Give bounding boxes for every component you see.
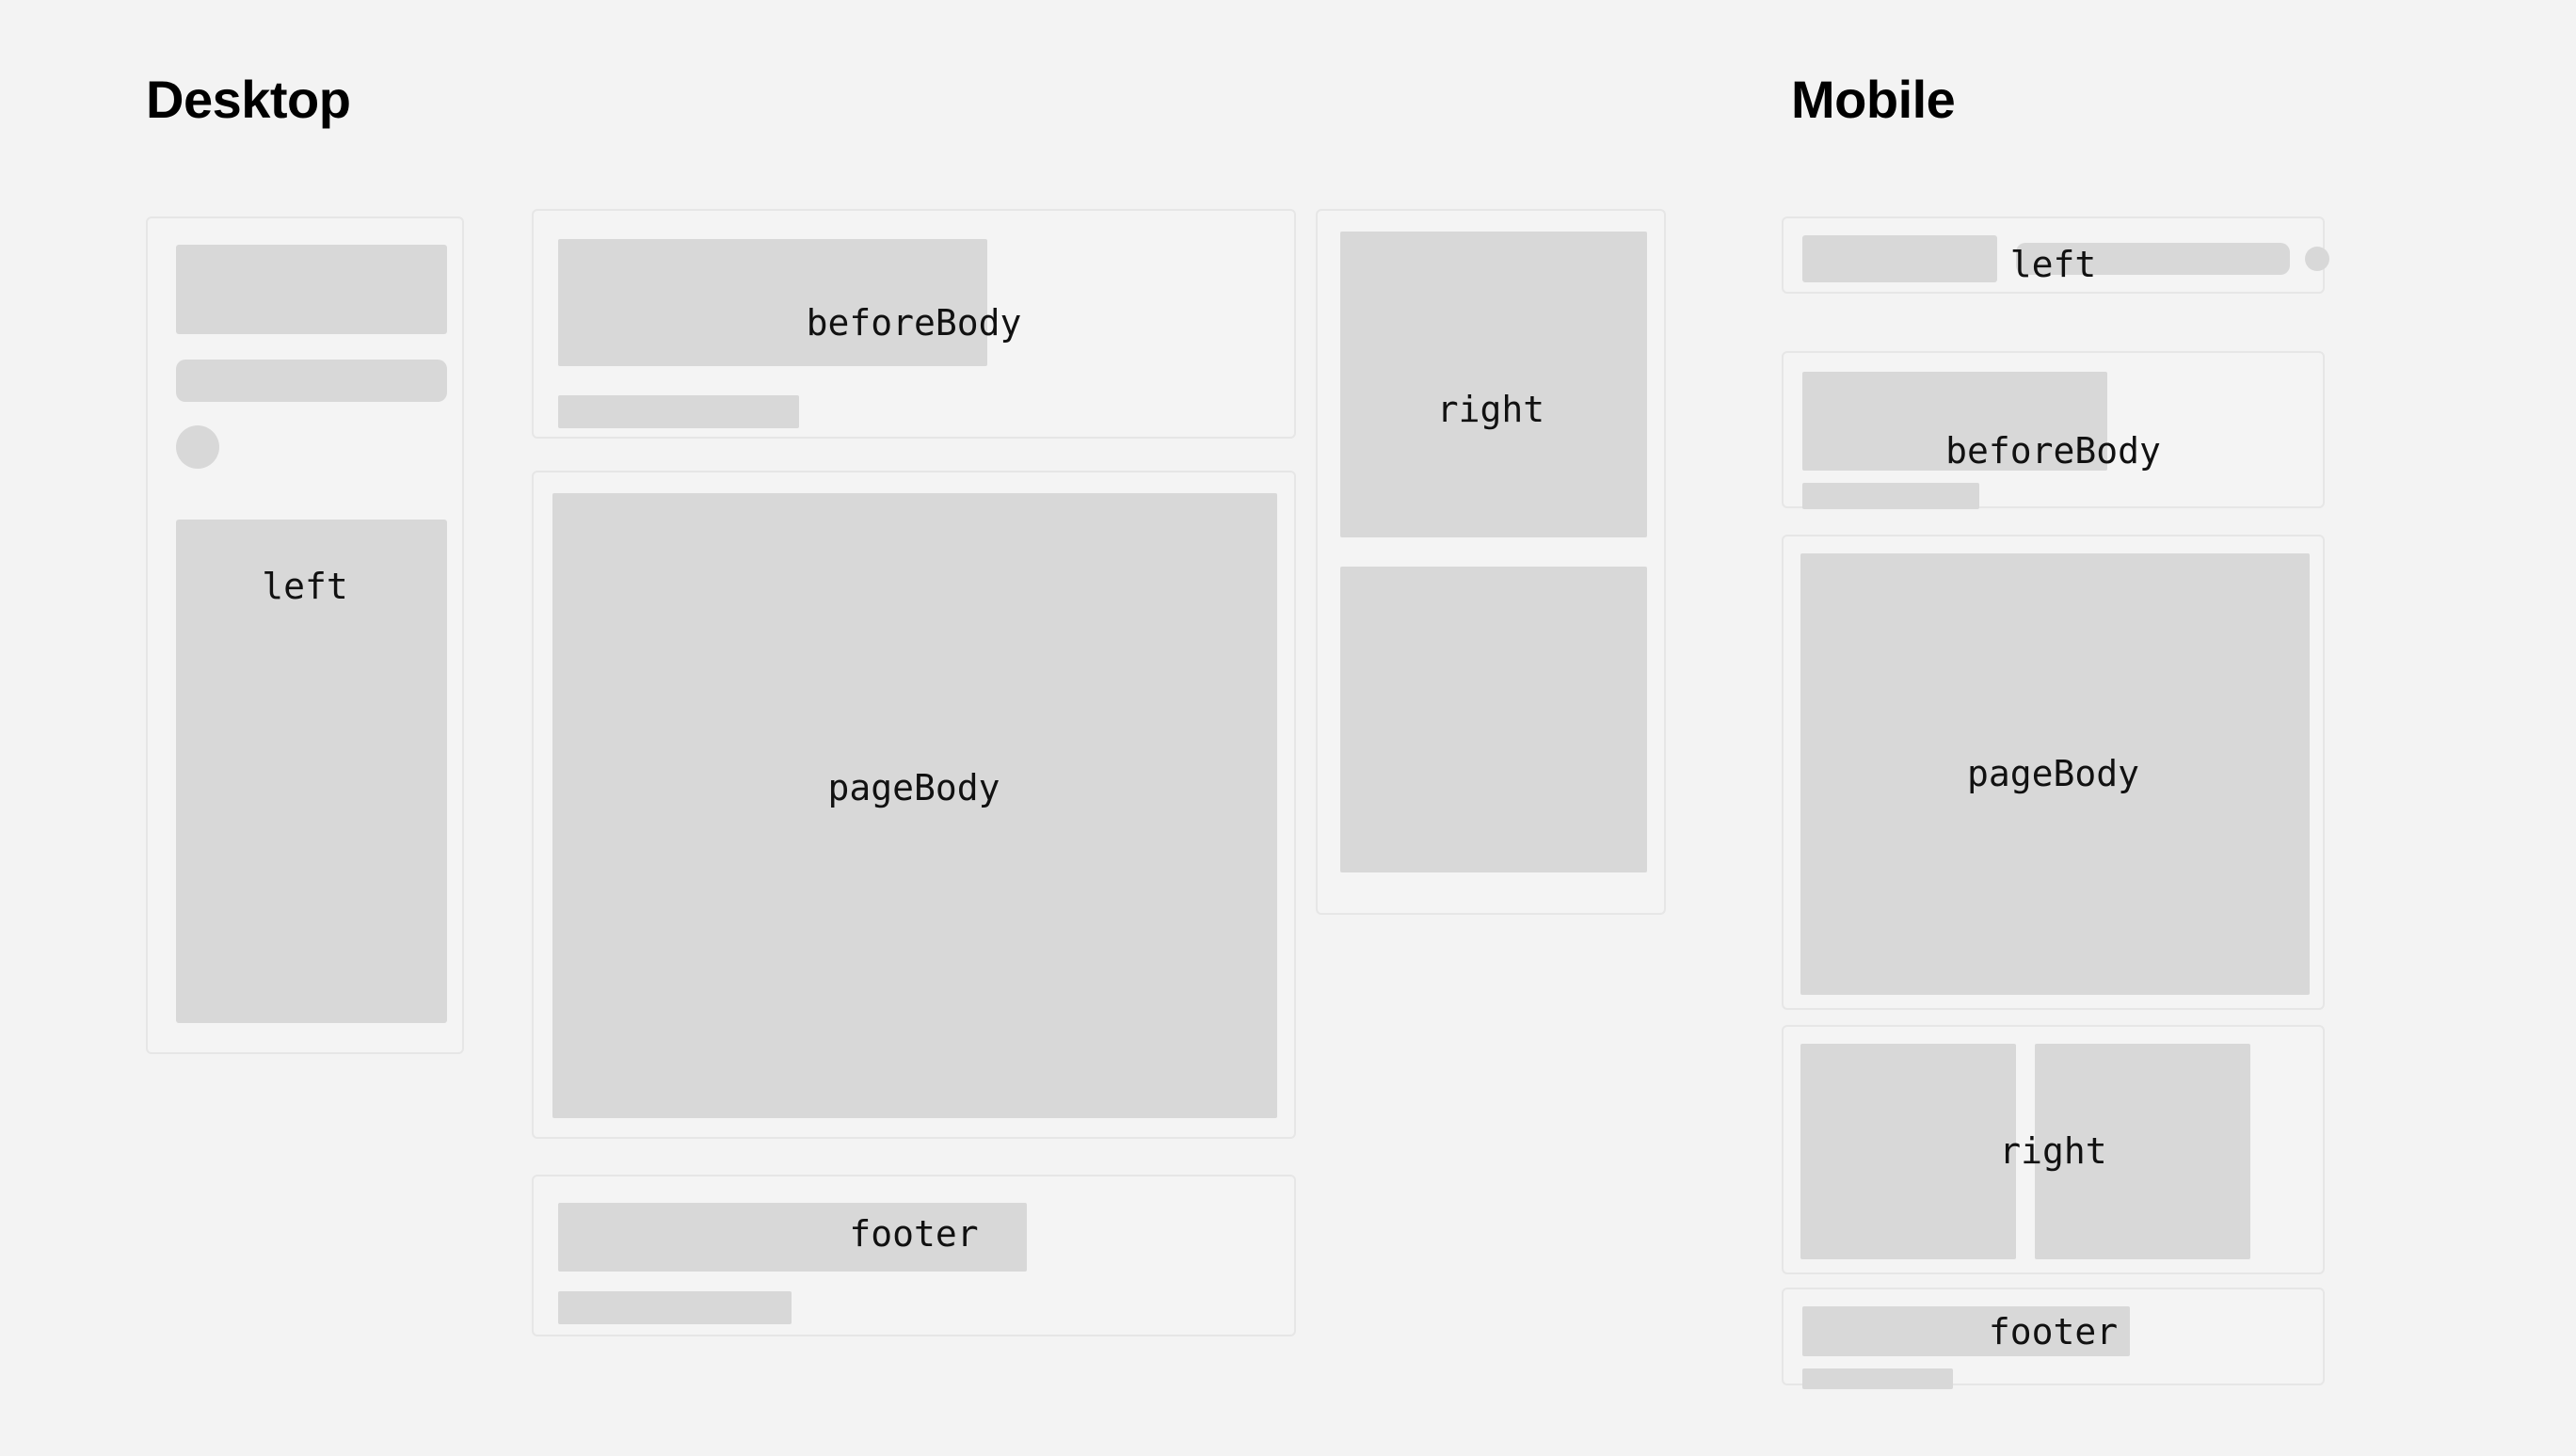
layout-preview-canvas: Desktop Mobile left beforeBody pageBody … <box>0 0 2576 1456</box>
skeleton-rect-block <box>558 395 799 428</box>
mobile-region-footer[interactable]: footer <box>1782 1288 2325 1385</box>
desktop-region-before-body[interactable]: beforeBody <box>532 209 1296 439</box>
skeleton-rect-block <box>1340 567 1647 872</box>
desktop-section-title: Desktop <box>146 73 350 126</box>
mobile-region-before-body[interactable]: beforeBody <box>1782 351 2325 508</box>
skeleton-rect-block <box>558 1291 792 1324</box>
mobile-section-title: Mobile <box>1791 73 1955 126</box>
skeleton-rect-block <box>1802 483 1979 509</box>
skeleton-pill-block <box>176 360 447 402</box>
skeleton-pill-block <box>2016 243 2290 275</box>
mobile-region-left[interactable]: left <box>1782 216 2325 294</box>
desktop-region-left[interactable]: left <box>146 216 464 1054</box>
skeleton-square-block <box>1800 1044 2016 1259</box>
skeleton-rect-block <box>1802 235 1997 282</box>
mobile-region-right[interactable]: right <box>1782 1025 2325 1274</box>
skeleton-rect-block <box>552 493 1277 1118</box>
skeleton-rect-block <box>1340 232 1647 537</box>
skeleton-circle-block <box>2305 247 2329 271</box>
skeleton-rect-block <box>558 239 987 366</box>
skeleton-circle-block <box>176 425 219 469</box>
skeleton-rect-block <box>558 1203 1027 1272</box>
desktop-region-footer[interactable]: footer <box>532 1175 1296 1336</box>
desktop-region-right[interactable]: right <box>1316 209 1666 915</box>
skeleton-square-block <box>2035 1044 2250 1259</box>
skeleton-rect-block <box>176 245 447 334</box>
skeleton-rect-block <box>1802 1306 2130 1356</box>
skeleton-rect-block <box>1802 372 2107 471</box>
mobile-region-page-body[interactable]: pageBody <box>1782 535 2325 1010</box>
desktop-region-page-body[interactable]: pageBody <box>532 471 1296 1139</box>
skeleton-rect-block <box>1802 1368 1953 1389</box>
skeleton-rect-block <box>1800 553 2310 995</box>
skeleton-rect-block <box>176 520 447 1023</box>
